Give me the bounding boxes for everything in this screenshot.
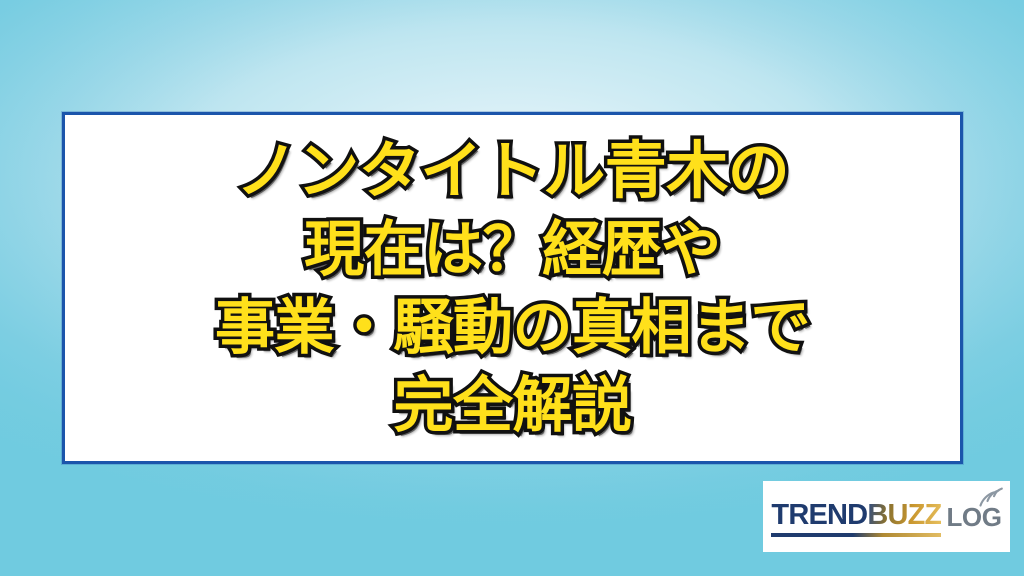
- brand-wordmark: TREND BUZZ: [771, 501, 941, 530]
- brand-word-trend: TREND: [771, 501, 867, 530]
- headline-line-1: ノンタイトル青木の: [236, 131, 790, 212]
- headline-line-4: 完全解説: [394, 367, 632, 445]
- wifi-signal-icon: [976, 481, 1006, 507]
- headline-line-3: 事業・騒動の真相まで: [215, 289, 810, 367]
- brand-logo[interactable]: TREND BUZZ LOG: [763, 481, 1010, 552]
- brand-word-log-wrap: LOG: [946, 504, 1001, 530]
- brand-word-buzz: BUZZ: [867, 501, 941, 530]
- headline-line-2: 現在は？経歴や: [304, 211, 721, 289]
- headline-text-block: ノンタイトル青木の 現在は？経歴や 事業・騒動の真相まで 完全解説: [65, 131, 960, 446]
- thumbnail-canvas: ノンタイトル青木の 現在は？経歴や 事業・騒動の真相まで 完全解説 TREND …: [0, 0, 1024, 576]
- brand-underline-bar: [771, 533, 941, 537]
- headline-card: ノンタイトル青木の 現在は？経歴や 事業・騒動の真相まで 完全解説: [62, 112, 963, 464]
- brand-logo-inner: TREND BUZZ LOG: [771, 501, 1001, 530]
